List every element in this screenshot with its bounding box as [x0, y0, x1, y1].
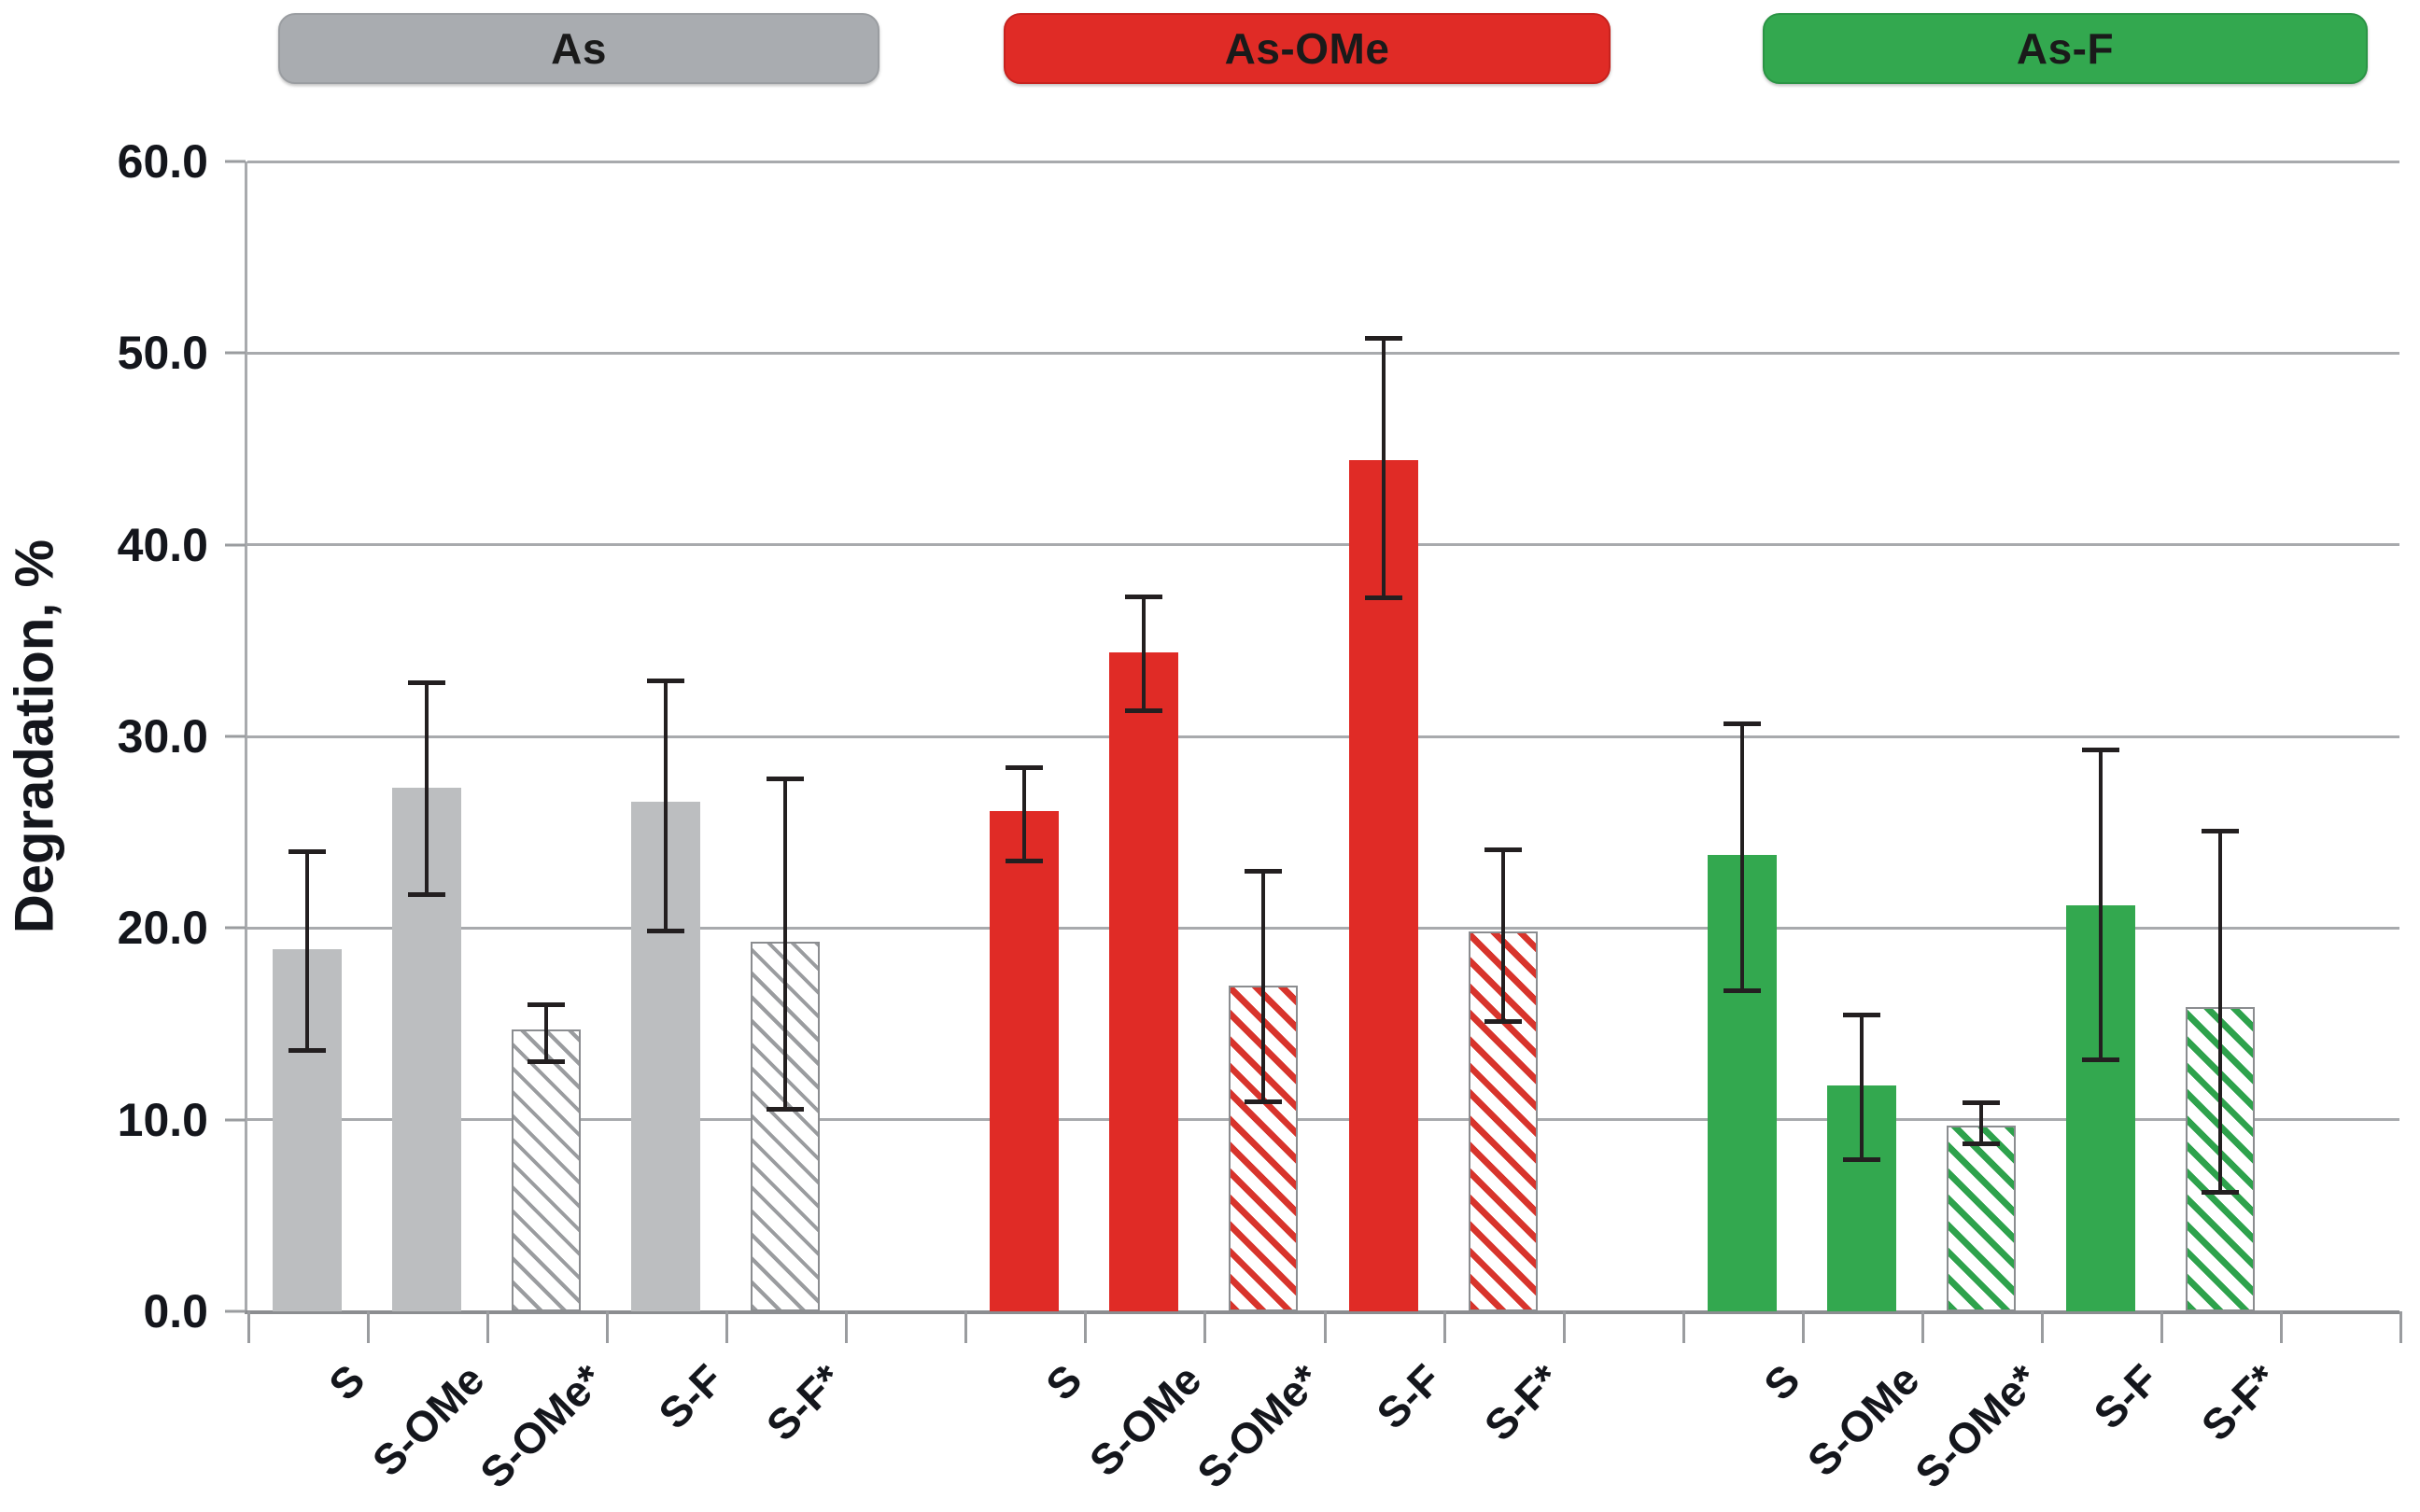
x-tick-label: S-F*: [1474, 1354, 1570, 1450]
error-bar-stem: [1740, 721, 1744, 994]
x-tick-label: S-F*: [756, 1354, 852, 1450]
error-bar-stem: [2099, 748, 2103, 1062]
error-bar-cap-bottom: [1245, 1099, 1282, 1104]
y-tick-mark: [225, 1118, 246, 1121]
x-tick-mark: [1324, 1311, 1327, 1343]
x-tick-label: S-OMe*: [1905, 1354, 2048, 1498]
error-bar: [1125, 595, 1162, 713]
gridline: [247, 161, 2399, 163]
x-tick-label: S: [1753, 1354, 1809, 1410]
error-bar-cap-bottom: [1484, 1019, 1522, 1024]
error-bar-stem: [1142, 595, 1146, 713]
error-bar-cap-bottom: [1963, 1141, 2000, 1146]
error-bar-cap-top: [2202, 829, 2239, 833]
error-bar-cap-bottom: [1125, 708, 1162, 713]
error-bar-cap-top: [528, 1002, 565, 1007]
plot-area: Degradation, % 60.050.040.030.020.010.00…: [247, 161, 2399, 1311]
x-tick-label: S-F: [1366, 1354, 1451, 1439]
error-bar: [528, 1002, 565, 1064]
error-bar-cap-top: [1843, 1013, 1880, 1017]
error-bar-cap-top: [767, 777, 804, 781]
error-bar-stem: [1501, 847, 1505, 1024]
error-bar-cap-top: [1963, 1100, 2000, 1105]
bar[interactable]: [1109, 652, 1178, 1311]
chart-legend: As As-OMe As-F: [0, 0, 2420, 93]
legend-item-as[interactable]: As: [278, 13, 879, 84]
x-tick-mark: [1084, 1311, 1087, 1343]
x-tick-mark: [2041, 1311, 2044, 1343]
x-tick-mark: [2160, 1311, 2163, 1343]
x-tick-mark: [1203, 1311, 1206, 1343]
error-bar: [1365, 336, 1402, 600]
error-bar-stem: [1261, 869, 1265, 1105]
error-bar-cap-bottom: [1006, 859, 1043, 863]
bar[interactable]: [990, 811, 1059, 1311]
error-bar-cap-bottom: [408, 892, 445, 897]
y-tick-label: 20.0: [40, 901, 208, 955]
error-bar-cap-bottom: [1365, 595, 1402, 600]
error-bar-stem: [783, 777, 787, 1112]
error-bar: [408, 680, 445, 897]
error-bar-cap-bottom: [288, 1048, 326, 1053]
error-bar-cap-bottom: [528, 1059, 565, 1064]
x-tick-mark: [1563, 1311, 1566, 1343]
error-bar: [288, 849, 326, 1053]
error-bar-stem: [544, 1002, 548, 1064]
error-bar-cap-bottom: [767, 1107, 804, 1112]
error-bar-cap-top: [1484, 847, 1522, 852]
error-bar-cap-bottom: [2202, 1190, 2239, 1195]
y-tick-mark: [225, 735, 246, 738]
x-tick-mark: [247, 1311, 250, 1343]
error-bar: [1963, 1100, 2000, 1146]
y-tick-label: 50.0: [40, 326, 208, 380]
x-tick-label: S-F*: [2191, 1354, 2287, 1450]
y-tick-mark: [225, 161, 246, 163]
error-bar-stem: [305, 849, 309, 1053]
x-tick-label: S-F: [649, 1354, 734, 1439]
x-tick-mark: [845, 1311, 848, 1343]
gridline: [247, 543, 2399, 546]
error-bar-cap-bottom: [647, 929, 684, 933]
x-tick-mark: [1682, 1311, 1685, 1343]
error-bar: [1245, 869, 1282, 1105]
error-bar-stem: [1022, 765, 1026, 863]
x-tick-mark: [964, 1311, 967, 1343]
x-tick-mark: [606, 1311, 609, 1343]
legend-label-as: As: [551, 23, 607, 74]
x-tick-mark: [486, 1311, 489, 1343]
error-bar-stem: [1979, 1100, 1983, 1146]
error-bar-stem: [664, 679, 668, 933]
x-tick-mark: [367, 1311, 370, 1343]
x-tick-label: S-OMe*: [470, 1354, 613, 1498]
error-bar: [1724, 721, 1761, 994]
x-tick-mark: [1802, 1311, 1805, 1343]
error-bar-cap-top: [647, 679, 684, 683]
x-tick-label: S: [1036, 1354, 1092, 1410]
y-tick-label: 30.0: [40, 709, 208, 763]
y-tick-mark: [225, 1310, 246, 1313]
error-bar-cap-top: [408, 680, 445, 685]
error-bar-cap-top: [1365, 336, 1402, 341]
bar[interactable]: [512, 1029, 581, 1311]
error-bar-cap-bottom: [1724, 988, 1761, 993]
y-tick-mark: [225, 927, 246, 930]
y-tick-mark: [225, 352, 246, 355]
error-bar: [2082, 748, 2119, 1062]
x-tick-mark: [725, 1311, 728, 1343]
error-bar-cap-top: [1724, 721, 1761, 726]
error-bar-cap-top: [2082, 748, 2119, 752]
y-tick-label: 60.0: [40, 134, 208, 189]
y-tick-label: 10.0: [40, 1093, 208, 1147]
error-bar-stem: [425, 680, 429, 897]
error-bar-stem: [1382, 336, 1386, 600]
legend-item-as-f[interactable]: As-F: [1763, 13, 2368, 84]
legend-label-as-f: As-F: [2017, 23, 2114, 74]
x-tick-label: S-F: [2083, 1354, 2168, 1439]
bar[interactable]: [1947, 1126, 2016, 1311]
error-bar: [647, 679, 684, 933]
error-bar-cap-top: [1125, 595, 1162, 599]
error-bar-cap-bottom: [1843, 1157, 1880, 1162]
error-bar-cap-top: [288, 849, 326, 854]
error-bar: [1006, 765, 1043, 863]
chart-root: As As-OMe As-F Degradation, % 60.050.040…: [0, 0, 2420, 1512]
error-bar-stem: [2218, 829, 2222, 1195]
x-tick-mark: [2280, 1311, 2283, 1343]
error-bar: [1843, 1013, 1880, 1162]
x-tick-mark: [1443, 1311, 1446, 1343]
x-tick-mark: [2399, 1311, 2402, 1343]
legend-item-as-ome[interactable]: As-OMe: [1004, 13, 1611, 84]
error-bar: [767, 777, 804, 1112]
x-tick-label: S: [318, 1354, 374, 1410]
y-tick-mark: [225, 543, 246, 546]
gridline: [247, 735, 2399, 738]
x-tick-mark: [1921, 1311, 1924, 1343]
y-tick-label: 0.0: [40, 1284, 208, 1338]
legend-label-as-ome: As-OMe: [1225, 23, 1390, 74]
error-bar-cap-top: [1245, 869, 1282, 874]
error-bar-cap-bottom: [2082, 1057, 2119, 1062]
error-bar-cap-top: [1006, 765, 1043, 770]
x-tick-label: S-OMe*: [1188, 1354, 1331, 1498]
error-bar: [2202, 829, 2239, 1195]
y-tick-label: 40.0: [40, 518, 208, 572]
error-bar-stem: [1860, 1013, 1864, 1162]
error-bar: [1484, 847, 1522, 1024]
gridline: [247, 352, 2399, 355]
